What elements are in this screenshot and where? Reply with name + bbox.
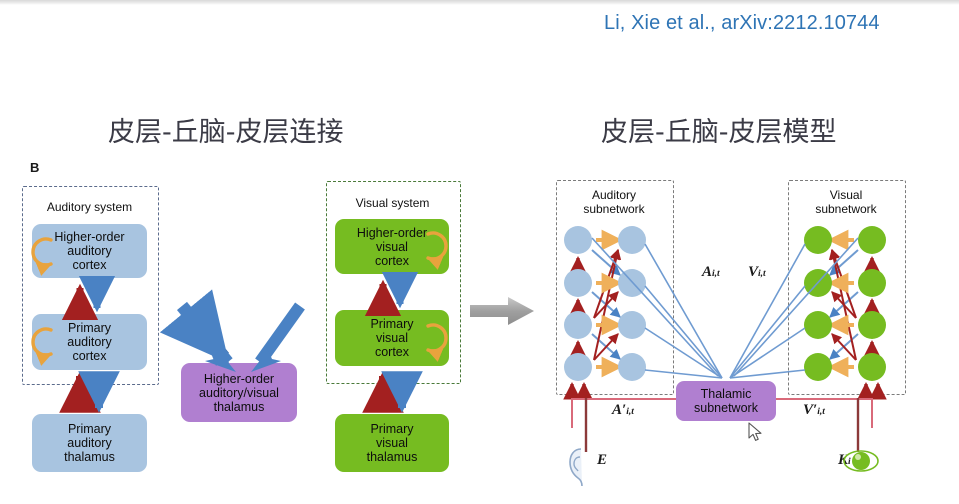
auditory-subnetwork-label: Auditorysubnetwork — [556, 188, 672, 216]
auditory-system-label: Auditory system — [22, 200, 157, 214]
box-primary-visual-thalamus: Primaryvisualthalamus — [335, 414, 449, 472]
mouse-cursor — [748, 422, 764, 444]
citation-text: Li, Xie et al., arXiv:2212.10744 — [604, 12, 880, 35]
box-primary-auditory-thalamus: Primaryauditorythalamus — [32, 414, 147, 472]
box-label: Primaryauditorycortex — [67, 321, 111, 363]
label-A-prime-it: A′i,t — [612, 402, 634, 419]
right-arrow-icon — [470, 297, 534, 325]
visual-system-label: Visual system — [326, 196, 459, 210]
label-V-prime-it: V′i,t — [803, 402, 825, 419]
box-label: Higher-orderauditorycortex — [54, 230, 124, 272]
box-label: Primaryvisualcortex — [370, 317, 413, 359]
label-V-it: Vi,t — [748, 264, 766, 281]
ear-icon — [570, 449, 582, 486]
box-label: Higher-orderauditory/visualthalamus — [199, 372, 279, 414]
label-K-i: Ki — [838, 452, 851, 469]
box-label: Thalamicsubnetwork — [694, 387, 758, 415]
slide-canvas: Li, Xie et al., arXiv:2212.10744 皮层-丘脑-皮… — [0, 0, 959, 504]
box-higher-order-auditory-cortex: Higher-orderauditorycortex — [32, 224, 147, 278]
box-primary-visual-cortex: Primaryvisualcortex — [335, 310, 449, 366]
box-primary-auditory-cortex: Primaryauditorycortex — [32, 314, 147, 370]
box-label: Primaryauditorythalamus — [64, 422, 115, 464]
visual-subnetwork-label: Visualsubnetwork — [788, 188, 904, 216]
window-top-bar — [0, 0, 959, 5]
box-label: Primaryvisualthalamus — [367, 422, 418, 464]
box-thalamic-subnetwork: Thalamicsubnetwork — [676, 381, 776, 421]
label-E: E — [597, 452, 607, 469]
left-section-title: 皮层-丘脑-皮层连接 — [108, 110, 344, 149]
panel-letter-b: B — [30, 160, 39, 175]
box-higher-order-visual-cortex: Higher-ordervisualcortex — [335, 219, 449, 274]
right-section-title: 皮层-丘脑-皮层模型 — [601, 110, 837, 149]
box-higher-order-auditory-visual-thalamus: Higher-orderauditory/visualthalamus — [181, 363, 297, 422]
box-label: Higher-ordervisualcortex — [357, 226, 427, 268]
label-A-it: Ai,t — [702, 264, 720, 281]
